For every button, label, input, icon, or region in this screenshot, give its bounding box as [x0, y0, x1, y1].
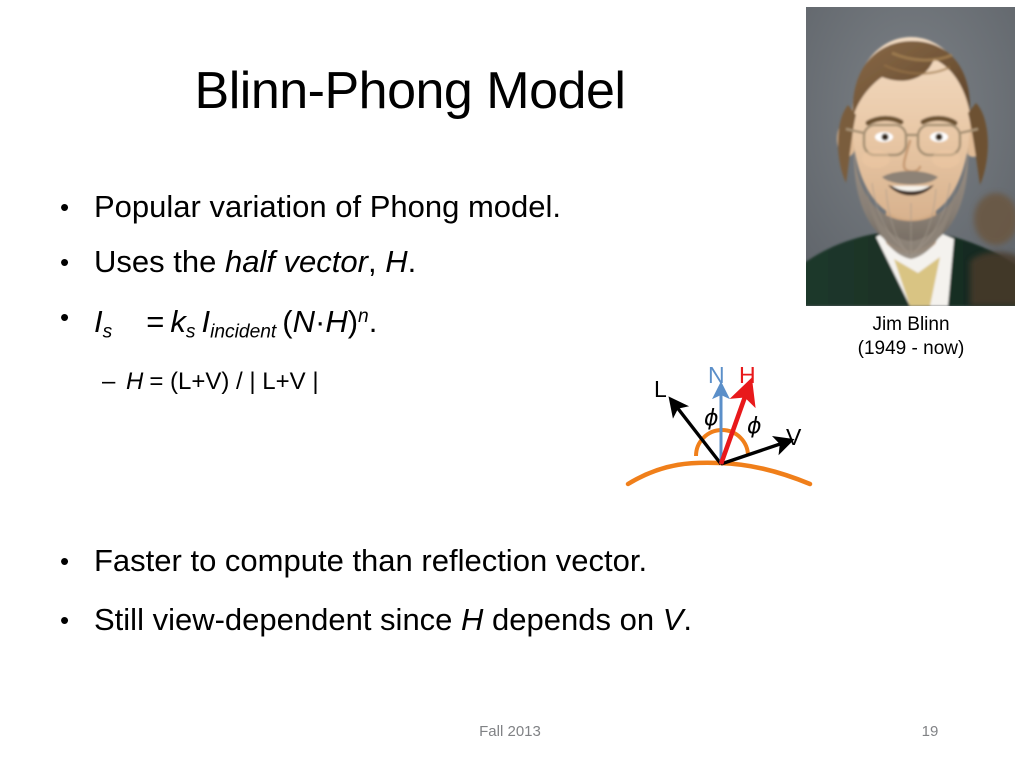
bullet-item-5: • Still view-dependent since H depends o…: [60, 601, 692, 639]
bullet-text-5: Still view-dependent since H depends on …: [94, 601, 692, 639]
formula-period: .: [369, 304, 378, 339]
bullet5-before: Still view-dependent since: [94, 602, 461, 637]
bullet-text-1: Popular variation of Phong model.: [94, 188, 561, 226]
bullet-item-3: • Is=ksIincident(N·H)n.: [60, 298, 377, 351]
bullet2-symbol-h: H: [385, 244, 407, 279]
formula-symbol-k: k: [170, 304, 186, 339]
bullet-item-2: • Uses the half vector, H.: [60, 243, 416, 281]
formula-dot-operator: ·: [315, 304, 325, 339]
bullet-marker: •: [60, 298, 94, 336]
formula-symbol-i-incident: I: [201, 304, 210, 339]
bullet2-period: .: [408, 244, 417, 279]
bullet2-comma: ,: [368, 244, 385, 279]
bullet-marker: •: [60, 243, 94, 281]
formula-specular-intensity: Is=ksIincident(N·H)n.: [94, 298, 377, 351]
formula-exponent-n: n: [358, 306, 369, 327]
phi-angle-label-left: ϕ: [704, 408, 719, 430]
half-vector-label: H: [739, 364, 756, 387]
page-title: Blinn-Phong Model: [60, 62, 760, 120]
bullet-item-4: • Faster to compute than reflection vect…: [60, 542, 647, 580]
formula-close-paren: ): [348, 304, 358, 339]
formula-symbol-h: H: [325, 304, 347, 339]
footer-page-number: 19: [900, 723, 960, 740]
formula-subscript-s: s: [103, 321, 113, 342]
photo-caption-name: Jim Blinn: [800, 313, 1022, 337]
blinn-phong-vector-diagram: L N H V ϕ ϕ: [620, 358, 820, 498]
bullet5-symbol-h: H: [461, 602, 483, 637]
phi-angle-label-right: ϕ: [747, 416, 762, 438]
bullet5-period: .: [683, 602, 692, 637]
sub-bullet-symbol-h: H: [126, 368, 143, 395]
photo-caption-years: (1949 - now): [800, 337, 1022, 361]
formula-equals: =: [146, 304, 164, 339]
sub-bullet-text: H= (L+V) / | L+V |: [126, 367, 319, 397]
bullet-item-1: • Popular variation of Phong model.: [60, 188, 561, 226]
bullet5-middle: depends on: [483, 602, 662, 637]
bullet-marker: •: [60, 188, 94, 226]
light-vector-label: L: [654, 378, 667, 401]
jim-blinn-portrait-photo: [806, 7, 1015, 306]
bullet5-symbol-v: V: [663, 602, 684, 637]
formula-subscript-incident: incident: [210, 321, 276, 342]
normal-vector-label: N: [708, 364, 725, 387]
formula-symbol-n: N: [293, 304, 315, 339]
sub-bullet-item-half-vector: – H= (L+V) / | L+V |: [102, 367, 319, 397]
slide-canvas: Blinn-Phong Model • Popular variation of…: [0, 0, 1024, 768]
sub-bullet-expression: = (L+V) / | L+V |: [149, 368, 318, 395]
formula-open-paren: (: [282, 304, 292, 339]
bullet-marker: •: [60, 601, 94, 639]
sub-bullet-marker: –: [102, 367, 126, 397]
bullet-marker: •: [60, 542, 94, 580]
view-vector-label: V: [786, 426, 801, 449]
bullet-text-2: Uses the half vector, H.: [94, 243, 416, 281]
bullet-text-4: Faster to compute than reflection vector…: [94, 542, 647, 580]
surface-curve: [628, 463, 810, 484]
bullet2-term-half-vector: half vector: [225, 244, 368, 279]
view-vector-arrow: [721, 443, 783, 464]
footer-term: Fall 2013: [430, 723, 590, 740]
photo-caption: Jim Blinn (1949 - now): [800, 313, 1022, 361]
bullet2-before: Uses the: [94, 244, 225, 279]
formula-symbol-i: I: [94, 304, 103, 339]
formula-subscript-ks: s: [186, 321, 196, 342]
